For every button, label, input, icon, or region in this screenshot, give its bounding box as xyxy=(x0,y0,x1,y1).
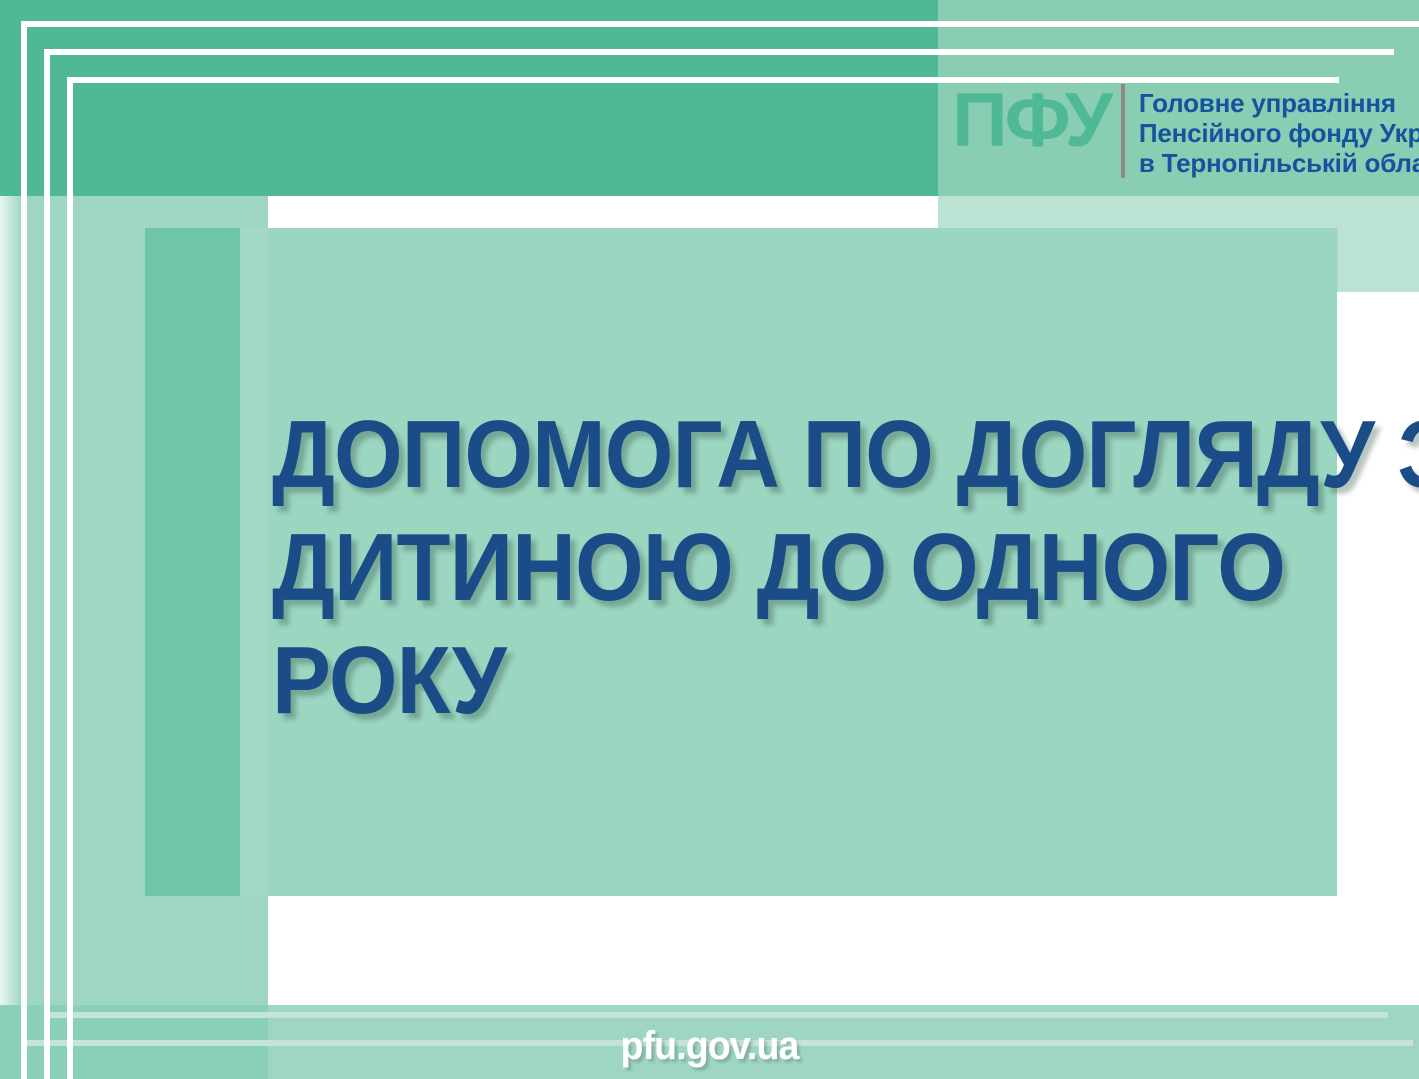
organization-logo: ПФУ Головне управління Пенсійного фонду … xyxy=(952,84,1419,178)
content-panel-accent xyxy=(145,228,240,896)
slide-title-line-3: РОКУ xyxy=(272,624,1238,737)
slide-title: ДОПОМОГА ПО ДОГЛЯДУ ЗА ДИТИНОЮ ДО ОДНОГО… xyxy=(272,398,1238,737)
organization-name: Головне управління Пенсійного фонду Укра… xyxy=(1139,84,1419,178)
slide-title-line-2: ДИТИНОЮ ДО ОДНОГО xyxy=(272,511,1238,624)
footer-website: pfu.gov.ua xyxy=(43,1024,1377,1069)
organization-name-line-2: Пенсійного фонду України xyxy=(1139,118,1419,148)
pfu-logo-mark: ПФУ xyxy=(952,84,1124,158)
top-header-band xyxy=(0,0,938,196)
slide-title-line-1: ДОПОМОГА ПО ДОГЛЯДУ ЗА xyxy=(272,398,1238,511)
slide-canvas: ПФУ Головне управління Пенсійного фонду … xyxy=(0,0,1419,1079)
content-panel-gutter xyxy=(240,228,268,896)
organization-name-line-1: Головне управління xyxy=(1139,88,1419,118)
organization-name-line-3: в Тернопільській області xyxy=(1139,148,1419,178)
